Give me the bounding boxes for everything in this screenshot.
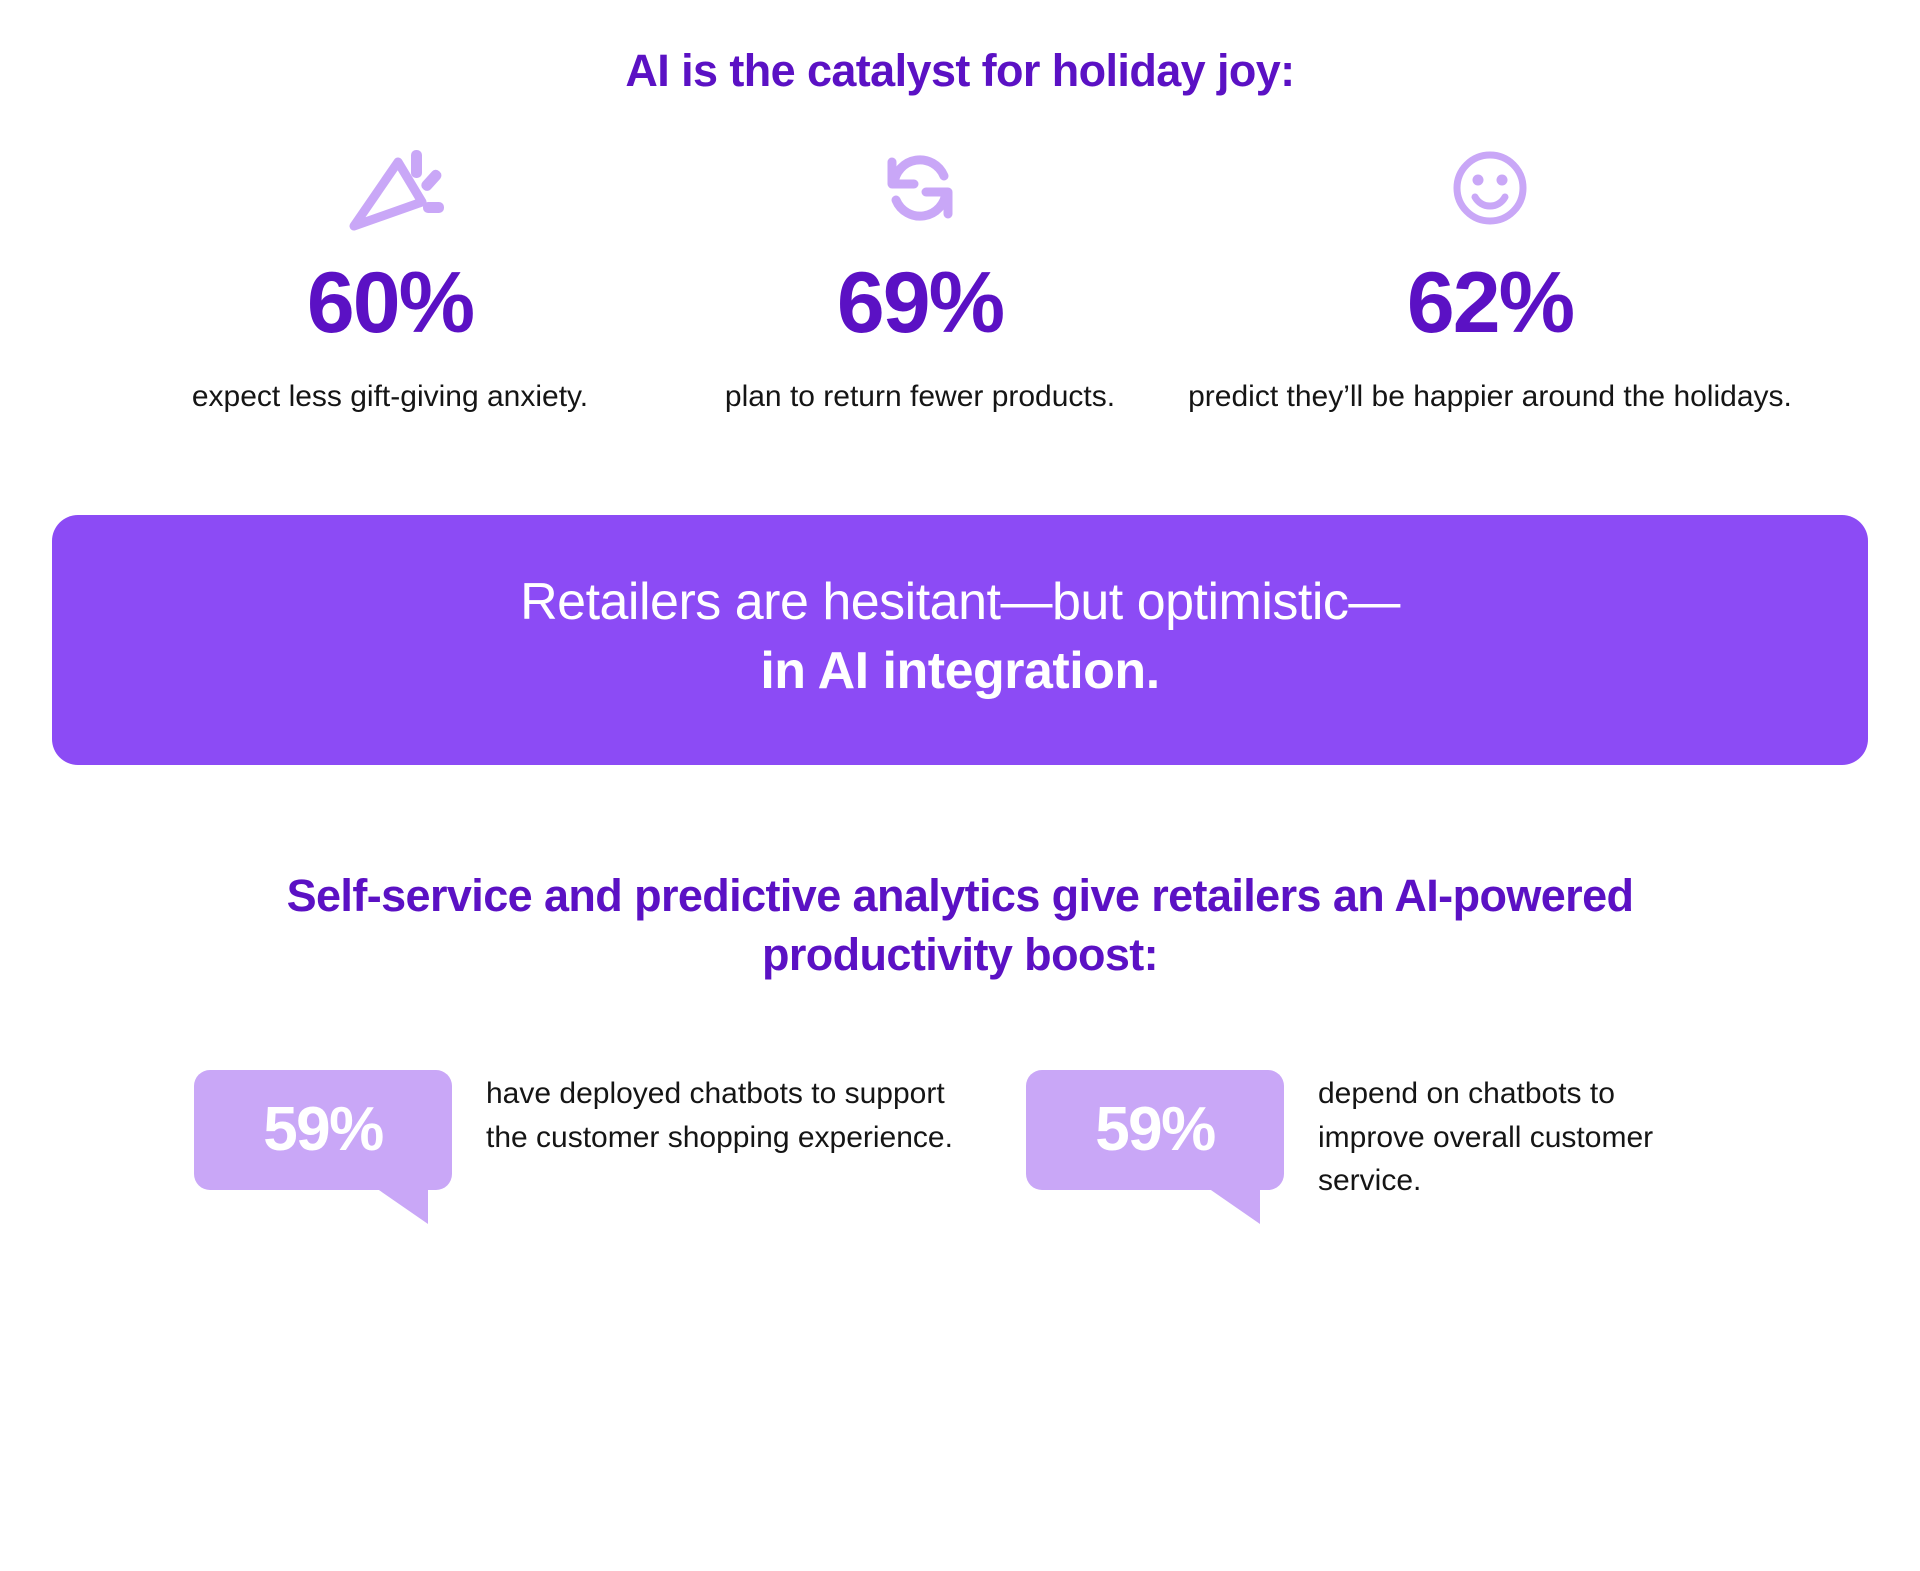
stat-caption: expect less gift-giving anxiety.	[110, 376, 670, 419]
holiday-joy-stats-row: 60% expect less gift-giving anxiety. 69%…	[0, 140, 1920, 419]
infographic-page: AI is the catalyst for holiday joy: 60% …	[0, 0, 1920, 1571]
stat-value: 62%	[1170, 260, 1810, 346]
stat-value: 69%	[670, 260, 1170, 346]
holiday-joy-heading: AI is the catalyst for holiday joy:	[0, 0, 1920, 98]
stat-caption: depend on chatbots to improve overall cu…	[1318, 1070, 1726, 1203]
stat-caption: predict they’ll be happier around the ho…	[1170, 376, 1810, 419]
stat-block-gift-anxiety: 60% expect less gift-giving anxiety.	[110, 140, 670, 419]
speech-bubble-tail	[1208, 1188, 1260, 1224]
productivity-heading: Self-service and predictive analytics gi…	[0, 867, 1920, 984]
stat-block-chatbot-shopping: 59% have deployed chatbots to support th…	[194, 1070, 954, 1190]
speech-bubble-badge: 59%	[1026, 1070, 1284, 1190]
banner-line-2: in AI integration.	[92, 640, 1828, 703]
stat-block-happiness: 62% predict they’ll be happier around th…	[1170, 140, 1810, 419]
stat-block-returns: 69% plan to return fewer products.	[670, 140, 1170, 419]
stat-caption: plan to return fewer products.	[670, 376, 1170, 419]
return-arrows-icon	[670, 140, 1170, 236]
productivity-stats-row: 59% have deployed chatbots to support th…	[0, 1070, 1920, 1203]
stat-value: 59%	[1095, 1099, 1215, 1161]
stat-block-chatbot-service: 59% depend on chatbots to improve overal…	[1026, 1070, 1726, 1203]
speech-bubble-tail	[376, 1188, 428, 1224]
banner-line-1: Retailers are hesitant—but optimistic—	[92, 571, 1828, 634]
party-popper-icon	[110, 140, 670, 236]
smiley-face-icon	[1170, 140, 1810, 236]
speech-bubble-badge: 59%	[194, 1070, 452, 1190]
stat-caption: have deployed chatbots to support the cu…	[486, 1070, 954, 1159]
stat-value: 60%	[110, 260, 670, 346]
ai-integration-banner: Retailers are hesitant—but optimistic— i…	[52, 515, 1868, 766]
stat-value: 59%	[263, 1099, 383, 1161]
